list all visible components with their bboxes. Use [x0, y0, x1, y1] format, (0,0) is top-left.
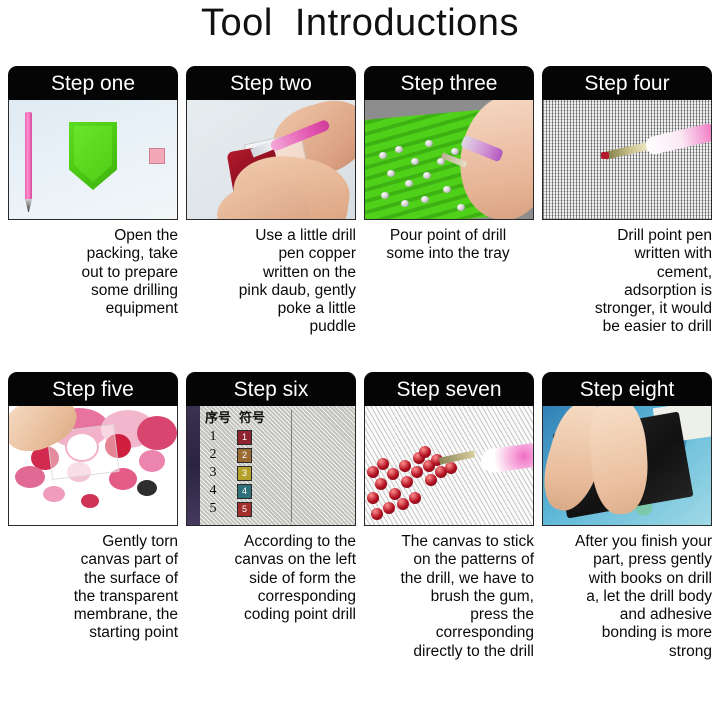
card-header-label-eight: Step eight	[580, 379, 675, 400]
page-title: Tool Introductions	[0, 2, 720, 45]
drill-bead-icon	[443, 186, 451, 193]
cell-serial: 4	[205, 483, 221, 499]
cell-symbol: 1	[237, 430, 252, 445]
drill-bead-icon	[401, 476, 413, 488]
floral-pattern-icon	[15, 466, 45, 488]
pink-pen-icon	[25, 112, 32, 200]
drill-bead-icon	[411, 158, 419, 165]
pen-nib-icon	[601, 152, 609, 159]
step-caption-three: Pour point of drill some into the tray	[362, 227, 534, 264]
drill-bead-icon	[397, 498, 409, 510]
table-row: 5 5	[205, 500, 283, 518]
pink-wax-square-icon	[149, 148, 165, 164]
column-header-serial: 序号	[205, 411, 231, 424]
cell-serial: 2	[205, 447, 221, 463]
step-one-photo-drill-pen-tray-wax	[8, 100, 178, 220]
pen-tip-icon	[605, 142, 648, 159]
step-card-four: Step four Drill point pen written with c…	[540, 66, 718, 372]
drill-bead-icon	[383, 502, 395, 514]
step-seven-photo-red-drills-pen	[364, 406, 534, 526]
step-eight-photo-hands-pressing-book	[542, 406, 712, 526]
step-card-two: Step two Use a little drill pen copper w…	[184, 66, 362, 372]
card-header-six: Step six	[186, 372, 356, 406]
step-caption-six: According to the canvas on the left side…	[184, 533, 356, 624]
pen-tip-icon	[439, 450, 476, 464]
floral-pattern-icon	[81, 494, 99, 508]
drill-bead-icon	[419, 446, 431, 458]
step-caption-two: Use a little drill pen copper written on…	[184, 227, 356, 337]
card-header-label-two: Step two	[230, 73, 312, 94]
step-card-five: Step five	[6, 372, 184, 678]
cell-symbol: 3	[237, 466, 252, 481]
step-three-photo-green-tray-with-drills	[364, 100, 534, 220]
coding-chart-header-row: 序号 符号	[205, 411, 283, 424]
drill-bead-icon	[377, 458, 389, 470]
card-four: Step four	[542, 66, 712, 220]
chart-divider	[291, 410, 292, 522]
table-row: 3 3	[205, 464, 283, 482]
pen-tip-icon	[25, 199, 32, 212]
card-header-four: Step four	[542, 66, 712, 100]
drill-bead-icon	[367, 492, 379, 504]
canvas-edge-icon	[187, 406, 200, 525]
drill-bead-icon	[409, 492, 421, 504]
card-header-three: Step three	[364, 66, 534, 100]
tool-introductions-page: Tool Introductions Step one Open the pac…	[0, 0, 720, 704]
cell-serial: 5	[205, 501, 221, 517]
card-header-label-four: Step four	[584, 73, 669, 94]
card-three: Step three	[364, 66, 534, 220]
step-caption-four: Drill point pen written with cement, ads…	[540, 227, 712, 337]
card-seven: Step seven	[364, 372, 534, 526]
drill-bead-icon	[425, 140, 433, 147]
step-caption-one: Open the packing, take out to prepare so…	[6, 227, 178, 318]
drill-bead-icon	[387, 468, 399, 480]
step-five-photo-floral-canvas-peel-film	[8, 406, 178, 526]
step-caption-eight: After you finish your part, press gently…	[540, 533, 712, 661]
cell-symbol: 2	[237, 448, 252, 463]
cell-symbol: 5	[237, 502, 252, 517]
floral-pattern-icon	[43, 486, 65, 502]
card-five: Step five	[8, 372, 178, 526]
drill-bead-icon	[451, 148, 459, 155]
step-six-photo-coding-chart: 序号 符号 1 1 2 2	[186, 406, 356, 526]
card-header-seven: Step seven	[364, 372, 534, 406]
card-six: Step six 序号 符号 1 1	[186, 372, 356, 526]
drill-bead-icon	[387, 170, 395, 177]
card-header-eight: Step eight	[542, 372, 712, 406]
card-header-label-seven: Step seven	[396, 379, 501, 400]
table-row: 4 4	[205, 482, 283, 500]
drill-bead-icon	[395, 146, 403, 153]
drill-bead-icon	[457, 204, 465, 211]
step-card-eight: Step eight After you finish your part, p…	[540, 372, 718, 678]
drill-bead-icon	[401, 200, 409, 207]
drill-bead-icon	[367, 466, 379, 478]
card-header-label-six: Step six	[234, 379, 309, 400]
drill-bead-icon	[405, 180, 413, 187]
cell-symbol: 4	[237, 484, 252, 499]
card-header-one: Step one	[8, 66, 178, 100]
drill-bead-icon	[423, 172, 431, 179]
cell-serial: 1	[205, 429, 221, 445]
card-header-two: Step two	[186, 66, 356, 100]
floral-pattern-icon	[137, 416, 177, 450]
floral-pattern-icon	[139, 450, 165, 472]
drill-bead-icon	[375, 478, 387, 490]
step-card-one: Step one Open the packing, take out to p…	[6, 66, 184, 372]
coding-chart-table: 序号 符号 1 1 2 2	[205, 411, 283, 521]
card-header-label-one: Step one	[51, 73, 135, 94]
step-card-seven: Step seven	[362, 372, 540, 678]
cell-serial: 3	[205, 465, 221, 481]
dark-pattern-icon	[137, 480, 157, 496]
drill-bead-icon	[445, 462, 457, 474]
card-header-label-three: Step three	[401, 73, 498, 94]
column-header-symbol: 符号	[239, 411, 265, 424]
step-four-photo-mesh-canvas-pen	[542, 100, 712, 220]
card-one: Step one	[8, 66, 178, 220]
drill-bead-icon	[425, 474, 437, 486]
table-row: 2 2	[205, 446, 283, 464]
drill-bead-icon	[411, 466, 423, 478]
pink-pen-icon	[480, 442, 534, 474]
card-header-label-five: Step five	[52, 379, 134, 400]
drill-bead-icon	[371, 508, 383, 520]
card-header-five: Step five	[8, 372, 178, 406]
card-eight: Step eight	[542, 372, 712, 526]
drill-bead-icon	[381, 192, 389, 199]
step-card-three: Step three	[362, 66, 540, 372]
table-row: 1 1	[205, 428, 283, 446]
drill-bead-icon	[399, 460, 411, 472]
step-two-photo-hands-pen-red-wax	[186, 100, 356, 220]
pink-pen-icon	[644, 122, 712, 156]
drill-bead-icon	[379, 152, 387, 159]
step-card-six: Step six 序号 符号 1 1	[184, 372, 362, 678]
drill-bead-icon	[421, 196, 429, 203]
step-caption-five: Gently torn canvas part of the surface o…	[6, 533, 178, 643]
steps-grid: Step one Open the packing, take out to p…	[6, 66, 716, 678]
step-caption-seven: The canvas to stick on the patterns of t…	[362, 533, 534, 661]
card-two: Step two	[186, 66, 356, 220]
coding-chart-rows: 1 1 2 2 3 3 4	[205, 428, 283, 518]
